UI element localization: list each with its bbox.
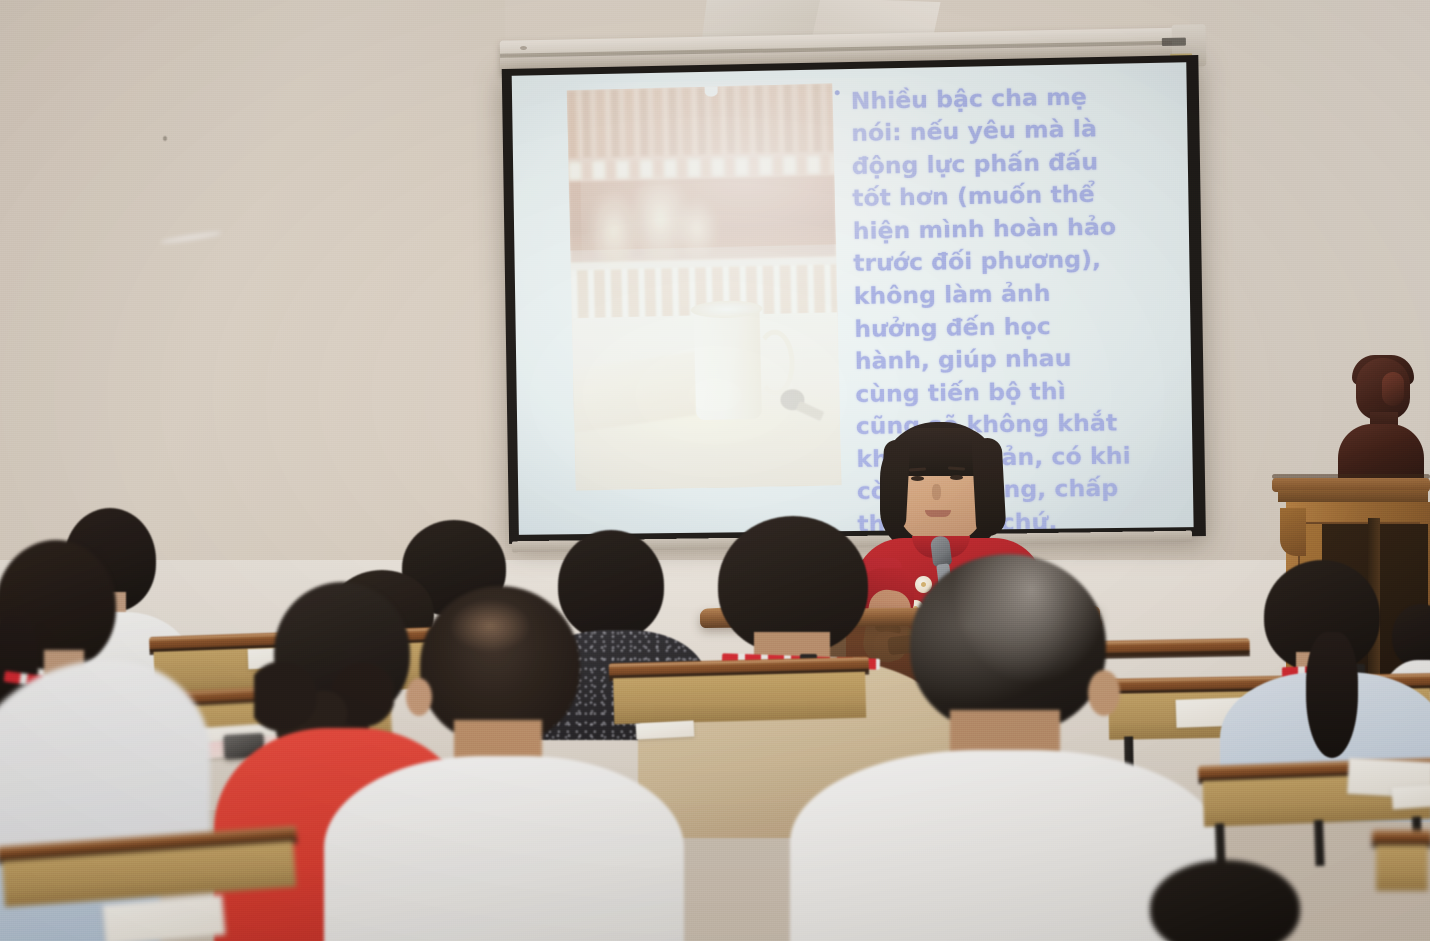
housing-screw <box>520 46 527 50</box>
bronze-bust <box>1338 358 1424 486</box>
housing-label <box>1162 38 1186 46</box>
slide-line: trước đối phương), <box>853 242 1152 280</box>
slide-line: hưởng đến học <box>854 308 1153 345</box>
balding-scalp <box>450 600 530 652</box>
audience-man-gray-hair-white-shirt <box>800 554 1200 941</box>
desk-front-panel <box>1376 845 1428 891</box>
slide-line: hành, giúp nhau <box>855 341 1154 378</box>
torso <box>324 756 684 941</box>
desk-gloss <box>1372 831 1430 835</box>
audience-woman-ponytail-light-blue <box>1230 560 1430 770</box>
ponytail <box>1306 632 1358 758</box>
slide-line: không làm ảnh <box>854 275 1153 312</box>
papers-right-desk-lower-2 <box>1391 785 1430 810</box>
ear <box>1088 670 1120 716</box>
audience-man-white-shirt-center <box>330 586 660 941</box>
presenter-eye-right <box>950 475 963 480</box>
slide-photo-mug-body <box>694 306 763 420</box>
presenter-eye-left <box>911 476 924 481</box>
housing-groove <box>500 40 1200 57</box>
desk-leg <box>1313 820 1324 866</box>
slide-photo-steam <box>582 166 757 282</box>
head <box>910 554 1106 734</box>
audience-head-bottom-right <box>1150 860 1310 941</box>
slide-line: động lực phấn đấu <box>851 144 1150 182</box>
altar-lip <box>1278 490 1428 502</box>
slide-photo-coffee-mug <box>567 83 841 490</box>
slide-line: nói: nếu yêu mà là <box>851 112 1150 150</box>
slide-line: cùng tiến bộ thì <box>855 373 1154 410</box>
presenter-nose <box>932 484 941 500</box>
bust-face-highlight <box>1382 372 1404 406</box>
wall-speck <box>163 136 167 141</box>
slide-photo-bookshelf <box>567 83 833 158</box>
head <box>1150 860 1300 941</box>
ear <box>406 678 432 716</box>
classroom-photo: Nhiều bậc cha mẹ nói: nếu yêu mà là động… <box>0 0 1430 941</box>
slide-bullet-marker <box>835 90 840 95</box>
desk-far-right-foreground <box>1372 830 1430 940</box>
slide-line: tốt hơn (muốn thể <box>852 177 1151 215</box>
altar-corbel <box>1280 508 1306 556</box>
slide-line: hiện mình hoàn hảo <box>853 210 1152 248</box>
presenter-hair-right <box>971 437 1006 536</box>
